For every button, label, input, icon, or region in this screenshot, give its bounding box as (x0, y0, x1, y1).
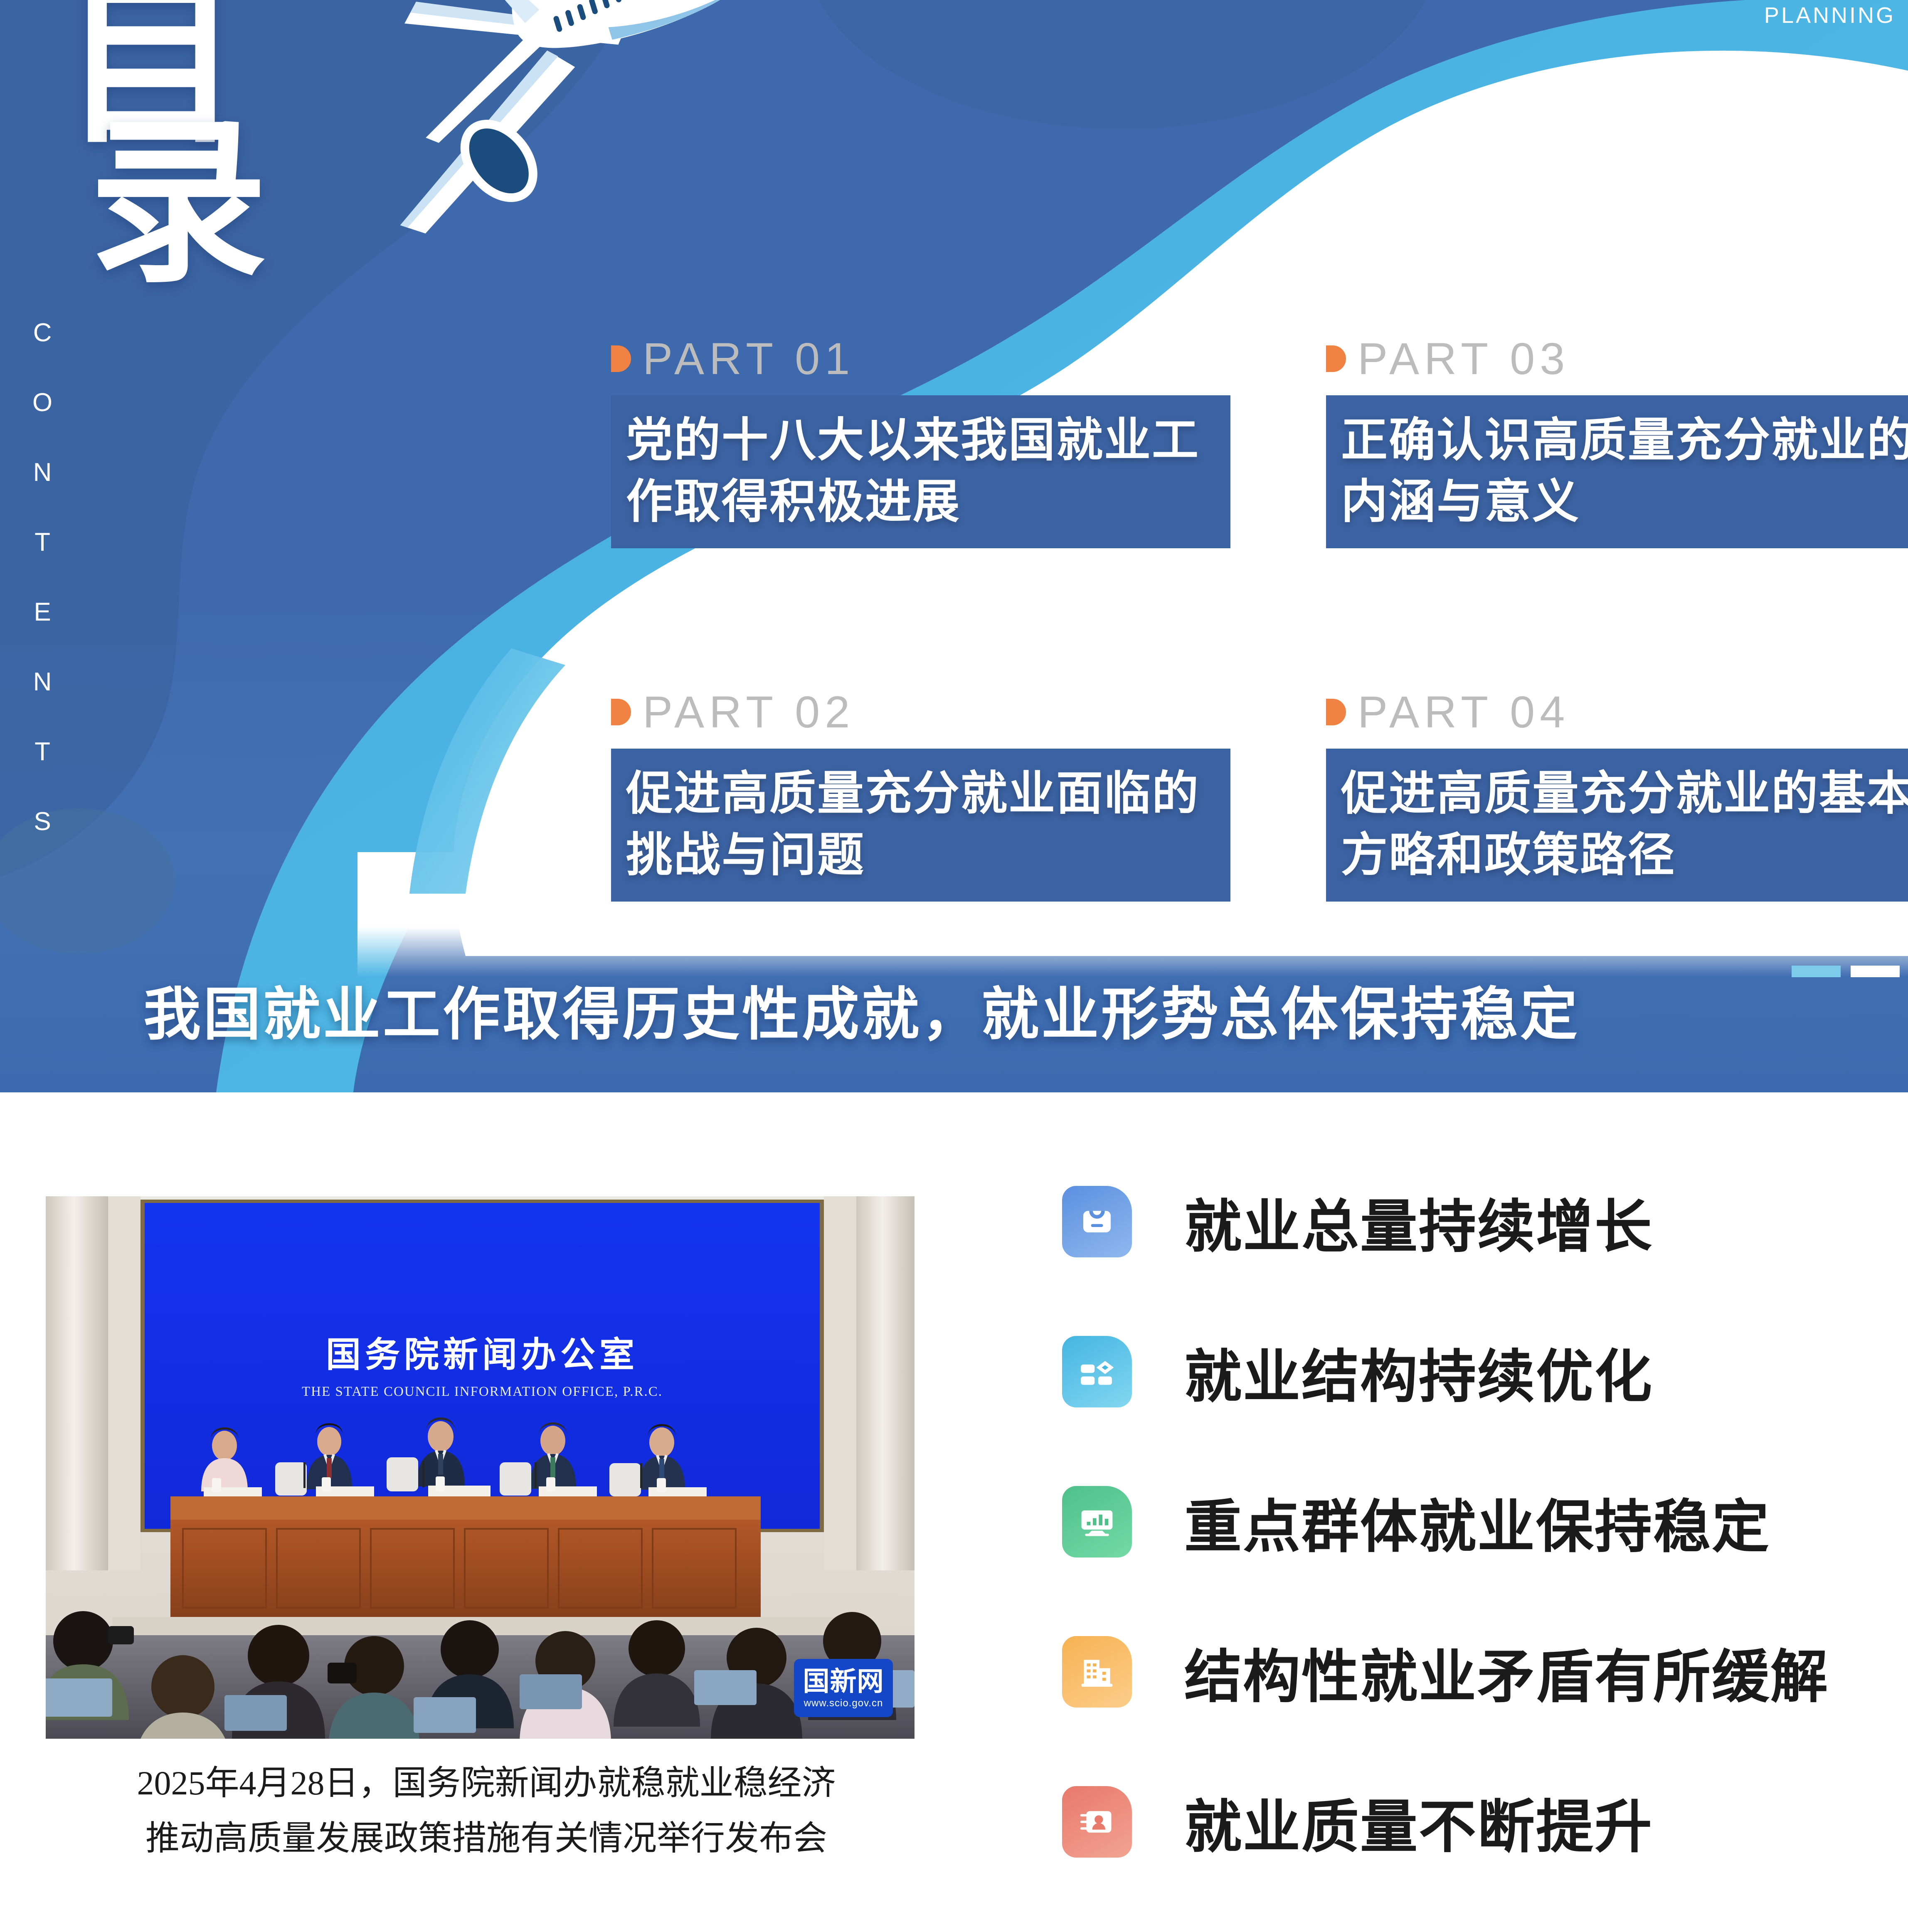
toc-item-part-03[interactable]: PART 03 正确认识高质量充分就业的内涵与意义 (1326, 333, 1908, 548)
decorative-rect-blue (1792, 966, 1841, 977)
table-of-contents-section: C O N T E N T S 目 录 PLANNING PART 01 党的十… (0, 0, 1908, 1092)
contents-letter: T (24, 739, 62, 765)
contents-vertical-label: C O N T E N T S (24, 320, 62, 879)
part-03-header: PART 03 (1326, 333, 1908, 384)
part-04-box[interactable]: 促进高质量充分就业的基本方略和政策路径 (1326, 749, 1908, 902)
svg-text:THE STATE COUNCIL INFORMATION: THE STATE COUNCIL INFORMATION OFFICE, P.… (302, 1384, 663, 1399)
list-item-label: 重点群体就业保持稳定 (1184, 1480, 1770, 1563)
contents-letter: N (24, 669, 62, 695)
decorative-rectangles (1792, 966, 1900, 977)
page-title: 目 录 (62, 0, 269, 293)
part-02-label: PART 02 (643, 686, 855, 738)
bullet-marker-icon (1326, 699, 1346, 725)
list-item-label: 结构性就业矛盾有所缓解 (1184, 1630, 1829, 1713)
list-item-label: 就业总量持续增长 (1184, 1180, 1653, 1263)
press-conference-photo-block: 国务院新闻办公室 THE STATE COUNCIL INFORMATION O… (46, 1196, 915, 1739)
part-03-box[interactable]: 正确认识高质量充分就业的内涵与意义 (1326, 395, 1908, 548)
part-01-text: 党的十八大以来我国就业工作取得积极进展 (626, 409, 1215, 532)
banner-headline: 我国就业工作取得历史性成就，就业形势总体保持稳定 (143, 968, 1681, 1051)
part-04-label: PART 04 (1358, 686, 1570, 738)
contents-letter: C (24, 320, 62, 346)
watermark-url: www.scio.gov.cn (804, 1698, 883, 1708)
contents-letter: T (24, 530, 62, 555)
part-01-header: PART 01 (611, 333, 1230, 384)
bullet-marker-icon (611, 699, 631, 725)
list-item-label: 就业质量不断提升 (1184, 1780, 1653, 1863)
key-points-list: 就业总量持续增长 就业结构持续优化 (1062, 1182, 1885, 1932)
decorative-rect-white (1851, 966, 1900, 977)
part-04-text: 促进高质量充分就业的基本方略和政策路径 (1341, 763, 1908, 886)
toc-item-part-01[interactable]: PART 01 党的十八大以来我国就业工作取得积极进展 (611, 333, 1230, 548)
part-01-box[interactable]: 党的十八大以来我国就业工作取得积极进展 (611, 395, 1230, 548)
grid-layout-icon (1062, 1336, 1132, 1407)
svg-text:国务院新闻办公室: 国务院新闻办公室 (326, 1335, 638, 1374)
part-03-text: 正确认识高质量充分就业的内涵与意义 (1341, 409, 1908, 532)
part-02-box[interactable]: 促进高质量充分就业面临的挑战与问题 (611, 749, 1230, 902)
page-title-char-2: 录 (89, 114, 269, 293)
toc-item-part-04[interactable]: PART 04 促进高质量充分就业的基本方略和政策路径 (1326, 686, 1908, 902)
list-item[interactable]: 结构性就业矛盾有所缓解 (1062, 1632, 1885, 1711)
id-card-icon (1062, 1786, 1132, 1858)
content-section: 国务院新闻办公室 THE STATE COUNCIL INFORMATION O… (0, 1092, 1908, 1908)
photo-caption: 2025年4月28日，国务院新闻办就稳就业稳经济 推动高质量发展政策措施有关情况… (42, 1756, 931, 1866)
press-conference-photo: 国务院新闻办公室 THE STATE COUNCIL INFORMATION O… (46, 1196, 915, 1739)
list-item[interactable]: 就业结构持续优化 (1062, 1332, 1885, 1411)
part-01-label: PART 01 (643, 333, 855, 384)
briefcase-icon (1062, 1186, 1132, 1257)
part-02-text: 促进高质量充分就业面临的挑战与问题 (626, 763, 1215, 886)
contents-letter: E (24, 599, 62, 625)
contents-letter: S (24, 809, 62, 835)
caption-line-2: 推动高质量发展政策措施有关情况举行发布会 (42, 1811, 931, 1866)
photo-illustration: 国务院新闻办公室 THE STATE COUNCIL INFORMATION O… (46, 1196, 915, 1739)
corner-label: PLANNING (1764, 2, 1896, 28)
list-item[interactable]: 就业质量不断提升 (1062, 1782, 1885, 1861)
list-item[interactable]: 重点群体就业保持稳定 (1062, 1482, 1885, 1561)
caption-line-1: 2025年4月28日，国务院新闻办就稳就业稳经济 (42, 1756, 931, 1811)
presentation-slide: C O N T E N T S 目 录 PLANNING PART 01 党的十… (0, 0, 1908, 1908)
watermark-title: 国新网 (803, 1668, 884, 1695)
bullet-marker-icon (611, 345, 631, 372)
toc-item-part-02[interactable]: PART 02 促进高质量充分就业面临的挑战与问题 (611, 686, 1230, 902)
contents-letter: N (24, 460, 62, 485)
monitor-chart-icon (1062, 1486, 1132, 1557)
scio-watermark: 国新网 www.scio.gov.cn (794, 1659, 893, 1717)
list-item-label: 就业结构持续优化 (1184, 1330, 1653, 1413)
building-icon (1062, 1636, 1132, 1708)
contents-letter: O (24, 390, 62, 416)
part-03-label: PART 03 (1358, 333, 1570, 384)
part-04-header: PART 04 (1326, 686, 1908, 738)
part-02-header: PART 02 (611, 686, 1230, 738)
list-item[interactable]: 就业总量持续增长 (1062, 1182, 1885, 1261)
bullet-marker-icon (1326, 345, 1346, 372)
